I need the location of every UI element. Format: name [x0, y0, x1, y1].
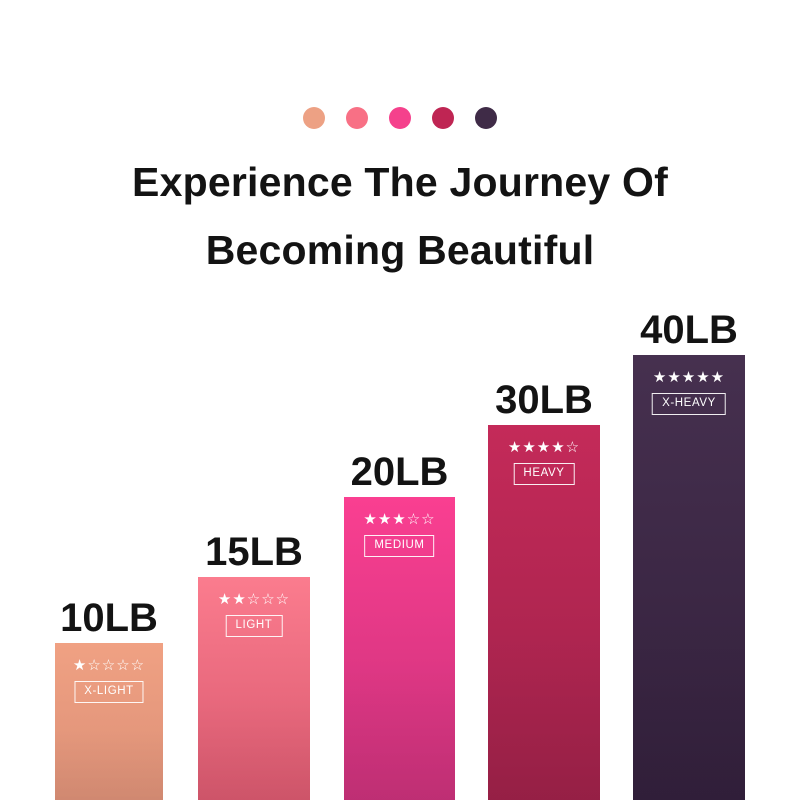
- tier-label: X-LIGHT: [74, 681, 144, 703]
- tier-label: LIGHT: [226, 615, 283, 637]
- bar-group-heavy[interactable]: 30LB★★★★☆HEAVY: [488, 425, 600, 800]
- bar-badge: ★★☆☆☆LIGHT: [205, 591, 304, 637]
- bar-group-x-light[interactable]: 10LB★☆☆☆☆X-LIGHT: [55, 643, 163, 800]
- bar-group-x-heavy[interactable]: 40LB★★★★★X-HEAVY: [633, 355, 745, 800]
- bar-gradient-overlay: [633, 355, 745, 800]
- bar-medium[interactable]: ★★★☆☆MEDIUM: [344, 497, 455, 800]
- bar-badge: ★★★☆☆MEDIUM: [351, 511, 449, 557]
- bar-badge: ★★★★☆HEAVY: [495, 439, 594, 485]
- weight-label: 10LB: [60, 596, 158, 640]
- bar-x-light[interactable]: ★☆☆☆☆X-LIGHT: [55, 643, 163, 800]
- star-rating: ★★★☆☆: [363, 511, 435, 528]
- bar-heavy[interactable]: ★★★★☆HEAVY: [488, 425, 600, 800]
- bar-group-medium[interactable]: 20LB★★★☆☆MEDIUM: [344, 497, 455, 800]
- weight-label: 30LB: [495, 378, 593, 422]
- weight-label: 15LB: [205, 530, 303, 574]
- bar-badge: ★☆☆☆☆X-LIGHT: [61, 657, 156, 703]
- infographic-page: Experience The Journey Of Becoming Beaut…: [0, 0, 800, 800]
- bar-badge: ★★★★★X-HEAVY: [640, 369, 739, 415]
- bar-light[interactable]: ★★☆☆☆LIGHT: [198, 577, 310, 800]
- bar-x-heavy[interactable]: ★★★★★X-HEAVY: [633, 355, 745, 800]
- weight-label: 40LB: [640, 308, 738, 352]
- weight-label: 20LB: [351, 450, 449, 494]
- star-rating: ★★★★★: [653, 369, 725, 386]
- star-rating: ★☆☆☆☆: [73, 657, 145, 674]
- star-rating: ★★☆☆☆: [218, 591, 290, 608]
- resistance-bar-chart: 10LB★☆☆☆☆X-LIGHT15LB★★☆☆☆LIGHT20LB★★★☆☆M…: [0, 0, 800, 800]
- bar-group-light[interactable]: 15LB★★☆☆☆LIGHT: [198, 577, 310, 800]
- tier-label: MEDIUM: [364, 535, 434, 557]
- tier-label: X-HEAVY: [652, 393, 726, 415]
- tier-label: HEAVY: [513, 463, 574, 485]
- star-rating: ★★★★☆: [508, 439, 580, 456]
